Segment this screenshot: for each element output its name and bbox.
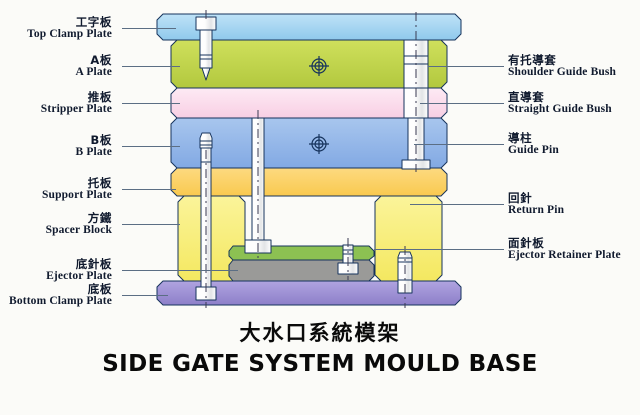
label-shoulder-guide-bush-en: Shoulder Guide Bush [508, 66, 616, 78]
leader-top-clamp-plate [122, 28, 176, 29]
label-spacer-block: 方鐵 Spacer Block [46, 212, 112, 237]
label-ejector-retainer-plate-en: Ejector Retainer Plate [508, 249, 621, 261]
label-shoulder-guide-bush: 有托導套 Shoulder Guide Bush [508, 54, 616, 79]
label-b-plate: B板 B Plate [76, 134, 113, 159]
label-straight-guide-bush-cn: 直導套 [508, 91, 612, 103]
label-b-plate-cn: B板 [76, 134, 113, 146]
label-a-plate: A板 A Plate [76, 54, 113, 79]
label-return-pin-en: Return Pin [508, 204, 564, 216]
plate-support-plate [171, 168, 447, 196]
label-top-clamp-plate-en: Top Clamp Plate [27, 28, 112, 40]
label-spacer-block-cn: 方鐵 [46, 212, 112, 224]
diagram-canvas: 工字板 Top Clamp Plate A板 A Plate 推板 Stripp… [0, 0, 640, 410]
label-stripper-plate-cn: 推板 [41, 91, 112, 103]
label-ejector-plate-cn: 底針板 [46, 258, 112, 270]
label-b-plate-en: B Plate [76, 146, 113, 158]
label-bottom-clamp-plate-en: Bottom Clamp Plate [9, 295, 112, 307]
label-straight-guide-bush-en: Straight Guide Bush [508, 103, 612, 115]
leader-return-pin [410, 204, 504, 205]
leader-a-plate [122, 66, 180, 67]
label-ejector-plate: 底針板 Ejector Plate [46, 258, 112, 283]
label-return-pin-cn: 回針 [508, 192, 564, 204]
title-chinese: 大水口系統模架 [0, 317, 640, 347]
leader-stripper-plate [122, 103, 180, 104]
title-english: SIDE GATE SYSTEM MOULD BASE [0, 351, 640, 377]
label-spacer-block-en: Spacer Block [46, 224, 112, 236]
leader-ejector-plate [122, 270, 238, 271]
label-top-clamp-plate: 工字板 Top Clamp Plate [27, 16, 112, 41]
label-return-pin: 回針 Return Pin [508, 192, 564, 217]
label-ejector-retainer-plate: 面針板 Ejector Retainer Plate [508, 237, 621, 262]
label-a-plate-en: A Plate [76, 66, 113, 78]
label-guide-pin: 導柱 Guide Pin [508, 132, 559, 157]
label-support-plate-en: Support Plate [42, 189, 112, 201]
label-support-plate: 托板 Support Plate [42, 177, 112, 202]
label-top-clamp-plate-cn: 工字板 [27, 16, 112, 28]
leader-b-plate [122, 146, 180, 147]
leader-ejector-retainer-plate [374, 249, 504, 250]
leader-straight-guide-bush [420, 103, 504, 104]
label-support-plate-cn: 托板 [42, 177, 112, 189]
label-guide-pin-en: Guide Pin [508, 144, 559, 156]
label-stripper-plate: 推板 Stripper Plate [41, 91, 112, 116]
label-stripper-plate-en: Stripper Plate [41, 103, 112, 115]
label-straight-guide-bush: 直導套 Straight Guide Bush [508, 91, 612, 116]
label-guide-pin-cn: 導柱 [508, 132, 559, 144]
leader-shoulder-guide-bush [428, 66, 504, 67]
label-bottom-clamp-plate-cn: 底板 [9, 283, 112, 295]
label-ejector-plate-en: Ejector Plate [46, 270, 112, 282]
diagram-title: 大水口系統模架 SIDE GATE SYSTEM MOULD BASE [0, 317, 640, 377]
label-ejector-retainer-plate-cn: 面針板 [508, 237, 621, 249]
label-bottom-clamp-plate: 底板 Bottom Clamp Plate [9, 283, 112, 308]
leader-guide-pin [414, 144, 504, 145]
leader-bottom-clamp-plate [122, 295, 168, 296]
label-a-plate-cn: A板 [76, 54, 113, 66]
label-shoulder-guide-bush-cn: 有托導套 [508, 54, 616, 66]
leader-support-plate [122, 189, 176, 190]
leader-spacer-block [122, 224, 180, 225]
